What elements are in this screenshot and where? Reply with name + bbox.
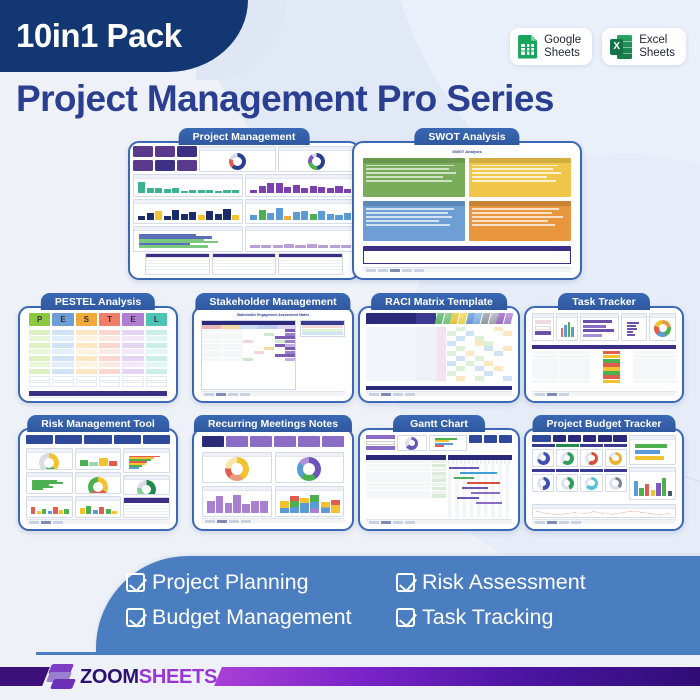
swot-quadrant-opportunities bbox=[363, 201, 465, 241]
feature-budget-management: Budget Management bbox=[126, 605, 396, 630]
excel-line2: Sheets bbox=[639, 47, 675, 59]
budget-line-chart bbox=[533, 510, 675, 516]
card-pestel-analysis[interactable]: PESTEL Analysis P E S T E L bbox=[18, 293, 178, 403]
card-title-project-management: Project Management bbox=[179, 128, 310, 145]
excel-line1: Excel bbox=[639, 34, 667, 46]
card-title-swot-analysis: SWOT Analysis bbox=[414, 128, 519, 145]
poster-canvas: 10in1 Pack Project Management Pro Series… bbox=[0, 0, 700, 700]
card-gantt-chart[interactable]: Gantt Chart bbox=[358, 415, 520, 531]
features-list: Project Planning Risk Assessment Budget … bbox=[126, 570, 666, 630]
card-risk-management-tool[interactable]: Risk Management Tool bbox=[18, 415, 178, 531]
brand-bar-topline bbox=[36, 652, 700, 655]
feature-label: Task Tracking bbox=[422, 605, 553, 630]
pestel-letter-e2: E bbox=[122, 313, 143, 326]
zoomsheets-logo-icon bbox=[48, 664, 76, 690]
check-icon bbox=[396, 608, 415, 627]
card-title-pestel-analysis: PESTEL Analysis bbox=[41, 293, 155, 310]
card-title-project-budget-tracker: Project Budget Tracker bbox=[533, 415, 676, 432]
card-title-recurring-meetings-notes: Recurring Meetings Notes bbox=[194, 415, 352, 432]
card-thumbnail-recurring-meetings-notes bbox=[192, 428, 354, 531]
features-panel: Project Planning Risk Assessment Budget … bbox=[96, 556, 700, 654]
card-thumbnail-project-management bbox=[128, 141, 360, 280]
excel-sheets-label: Excel Sheets bbox=[639, 34, 675, 59]
google-sheets-badge: Google Sheets bbox=[510, 28, 592, 65]
card-project-management[interactable]: Project Management bbox=[128, 128, 360, 280]
stakeholder-sheet-header: Stakeholder Engagement Assessment Matrix bbox=[201, 313, 345, 317]
google-sheets-line2: Sheets bbox=[544, 47, 580, 59]
card-thumbnail-risk-management-tool bbox=[18, 428, 178, 531]
swot-quadrant-threats bbox=[469, 201, 571, 241]
card-title-gantt-chart: Gantt Chart bbox=[393, 415, 485, 432]
google-sheets-line1: Google bbox=[544, 34, 581, 46]
pestel-letter-s: S bbox=[76, 313, 97, 326]
feature-risk-assessment: Risk Assessment bbox=[396, 570, 666, 595]
pack-badge-label: 10in1 Pack bbox=[16, 17, 182, 55]
card-title-stakeholder-management: Stakeholder Management bbox=[195, 293, 350, 310]
card-title-risk-management-tool: Risk Management Tool bbox=[27, 415, 169, 432]
swot-quadrant-weaknesses bbox=[469, 158, 571, 198]
card-thumbnail-raci-matrix-template bbox=[358, 306, 520, 403]
card-thumbnail-stakeholder-management: Stakeholder Engagement Assessment Matrix bbox=[192, 306, 354, 403]
feature-label: Budget Management bbox=[152, 605, 352, 630]
pestel-letter-t: T bbox=[99, 313, 120, 326]
feature-label: Risk Assessment bbox=[422, 570, 586, 595]
feature-project-planning: Project Planning bbox=[126, 570, 396, 595]
app-compatibility-badges: Google Sheets X Excel Sheets bbox=[510, 28, 686, 65]
brand-part2: SHEETS bbox=[139, 666, 217, 688]
swot-sheet-header: SWOT Analysis bbox=[363, 149, 571, 154]
feature-label: Project Planning bbox=[152, 570, 309, 595]
pestel-letter-l: L bbox=[146, 313, 167, 326]
card-thumbnail-swot-analysis: SWOT Analysis bbox=[352, 141, 582, 280]
swot-quadrant-strengths bbox=[363, 158, 465, 198]
card-raci-matrix-template[interactable]: RACI Matrix Template bbox=[358, 293, 520, 403]
card-project-budget-tracker[interactable]: Project Budget Tracker bbox=[524, 415, 684, 531]
google-sheets-icon bbox=[518, 35, 537, 59]
check-icon bbox=[126, 608, 145, 627]
excel-sheets-badge: X Excel Sheets bbox=[602, 28, 686, 65]
card-thumbnail-gantt-chart bbox=[358, 428, 520, 531]
brand-bar: ZOOMSHEETS bbox=[0, 656, 700, 700]
brand-left-accent bbox=[0, 667, 50, 686]
card-stakeholder-management[interactable]: Stakeholder Management Stakeholder Engag… bbox=[192, 293, 354, 403]
check-icon bbox=[126, 573, 145, 592]
excel-icon: X bbox=[610, 35, 632, 59]
card-thumbnail-pestel-analysis: P E S T E L bbox=[18, 306, 178, 403]
check-icon bbox=[396, 573, 415, 592]
brand-wordmark: ZOOMSHEETS bbox=[80, 666, 217, 689]
card-title-task-tracker: Task Tracker bbox=[558, 293, 650, 310]
card-task-tracker[interactable]: Task Tracker bbox=[524, 293, 684, 403]
card-recurring-meetings-notes[interactable]: Recurring Meetings Notes bbox=[192, 415, 354, 531]
brand-right-accent bbox=[214, 667, 700, 686]
brand-part1: ZOOM bbox=[80, 666, 139, 688]
feature-task-tracking: Task Tracking bbox=[396, 605, 666, 630]
pestel-letter-e1: E bbox=[52, 313, 73, 326]
page-title: Project Management Pro Series bbox=[16, 78, 696, 120]
pestel-letter-p: P bbox=[29, 313, 50, 326]
google-sheets-label: Google Sheets bbox=[544, 34, 581, 59]
card-thumbnail-project-budget-tracker bbox=[524, 428, 684, 531]
card-title-raci-matrix-template: RACI Matrix Template bbox=[371, 293, 507, 310]
card-thumbnail-task-tracker bbox=[524, 306, 684, 403]
card-swot-analysis[interactable]: SWOT Analysis SWOT Analysis bbox=[352, 128, 582, 280]
